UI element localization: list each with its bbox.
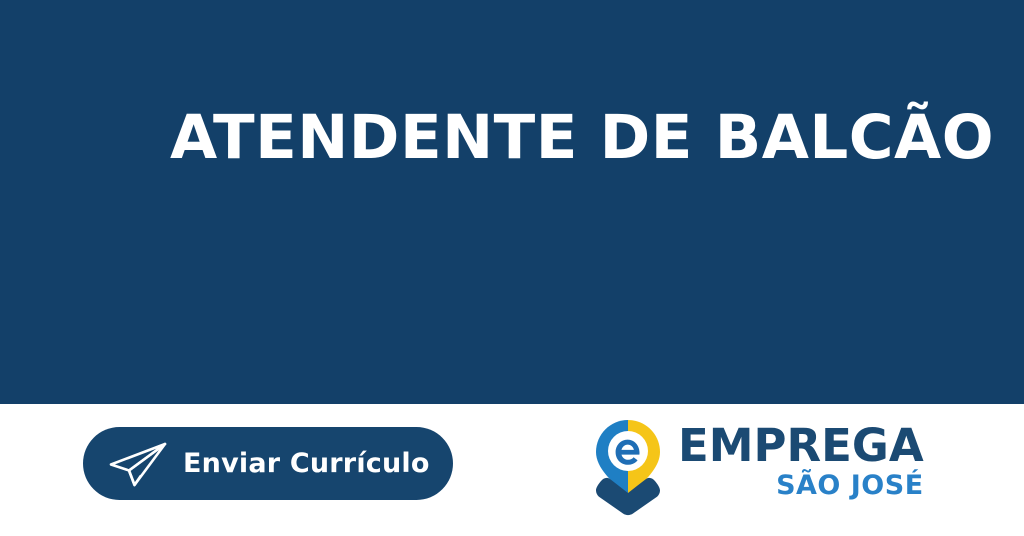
send-resume-button[interactable]: Enviar Currículo <box>83 427 453 500</box>
logo-subtitle: SÃO JOSÉ <box>776 471 924 501</box>
logo-name: EMPREGA <box>678 422 924 470</box>
send-resume-button-label: Enviar Currículo <box>183 448 430 479</box>
job-vacancy-banner: ATENDENTE DE BALCÃO Enviar Currículo <box>0 0 1024 536</box>
map-pin-e-icon <box>592 418 664 516</box>
paper-plane-send-icon <box>99 427 177 500</box>
hero-section: ATENDENTE DE BALCÃO <box>0 0 1024 404</box>
logo-wordmark: EMPREGA SÃO JOSÉ <box>678 418 924 501</box>
page-title: ATENDENTE DE BALCÃO <box>170 103 870 173</box>
emprega-sao-jose-logo[interactable]: EMPREGA SÃO JOSÉ <box>592 418 922 518</box>
